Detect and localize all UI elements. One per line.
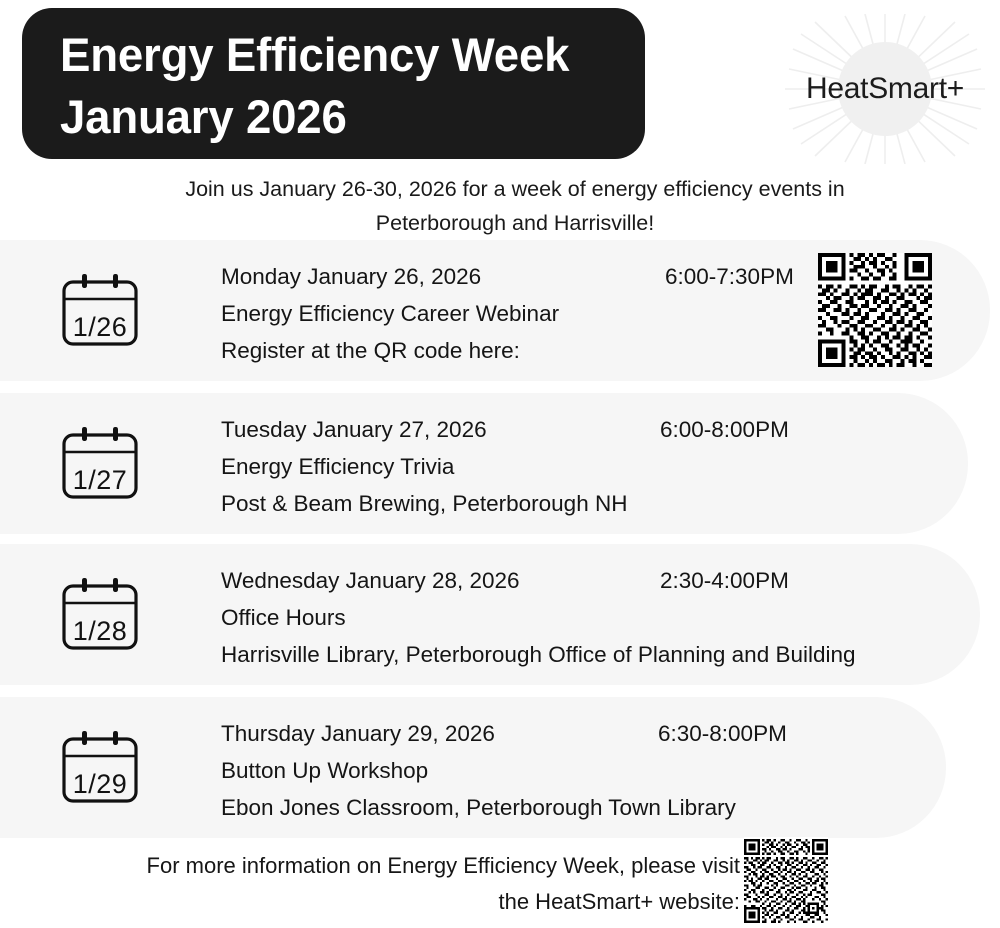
event-title-line: Energy Efficiency Trivia	[221, 448, 627, 485]
qr-code-icon[interactable]	[744, 837, 828, 925]
event-detail-line: Harrisville Library, Peterborough Office…	[221, 636, 856, 673]
heatsmart-logo: HeatSmart+	[775, 14, 995, 164]
event-row: 1/27 Tuesday January 27, 2026 Energy Eff…	[0, 393, 968, 534]
event-date-line: Tuesday January 27, 2026	[221, 411, 627, 448]
footer-line-1: For more information on Energy Efficienc…	[80, 848, 740, 884]
logo-wordmark: HeatSmart+	[775, 14, 995, 164]
event-details: Monday January 26, 2026 Energy Efficienc…	[221, 258, 559, 369]
page-title-line-2: January 2026	[60, 86, 627, 148]
page-title-line-1: Energy Efficiency Week	[60, 24, 627, 86]
event-time: 6:00-7:30PM	[665, 258, 794, 295]
calendar-date-label: 1/27	[58, 425, 142, 503]
event-detail-line: Post & Beam Brewing, Peterborough NH	[221, 485, 627, 522]
event-time: 6:00-8:00PM	[660, 411, 789, 448]
event-details: Tuesday January 27, 2026 Energy Efficien…	[221, 411, 627, 522]
event-title-line: Button Up Workshop	[221, 752, 736, 789]
event-row: 1/29 Thursday January 29, 2026 Button Up…	[0, 697, 946, 838]
intro-text: Join us January 26-30, 2026 for a week o…	[120, 172, 910, 240]
qr-code-icon[interactable]	[818, 253, 932, 367]
event-time: 2:30-4:00PM	[660, 562, 789, 599]
event-detail-line: Ebon Jones Classroom, Peterborough Town …	[221, 789, 736, 826]
footer-line-2: the HeatSmart+ website:	[80, 884, 740, 920]
calendar-icon: 1/28	[58, 576, 142, 654]
event-detail-line: Register at the QR code here:	[221, 332, 559, 369]
event-title-line: Office Hours	[221, 599, 856, 636]
event-title-line: Energy Efficiency Career Webinar	[221, 295, 559, 332]
calendar-date-label: 1/26	[58, 272, 142, 350]
calendar-date-label: 1/29	[58, 729, 142, 807]
header: Energy Efficiency Week January 2026	[0, 0, 1000, 170]
calendar-icon: 1/26	[58, 272, 142, 350]
calendar-icon: 1/29	[58, 729, 142, 807]
title-banner: Energy Efficiency Week January 2026	[22, 8, 645, 159]
event-time: 6:30-8:00PM	[658, 715, 787, 752]
calendar-icon: 1/27	[58, 425, 142, 503]
intro-line-1: Join us January 26-30, 2026 for a week o…	[120, 172, 910, 206]
calendar-date-label: 1/28	[58, 576, 142, 654]
event-date-line: Monday January 26, 2026	[221, 258, 559, 295]
footer-text: For more information on Energy Efficienc…	[80, 848, 740, 920]
intro-line-2: Peterborough and Harrisville!	[120, 206, 910, 240]
event-row: 1/28 Wednesday January 28, 2026 Office H…	[0, 544, 980, 685]
